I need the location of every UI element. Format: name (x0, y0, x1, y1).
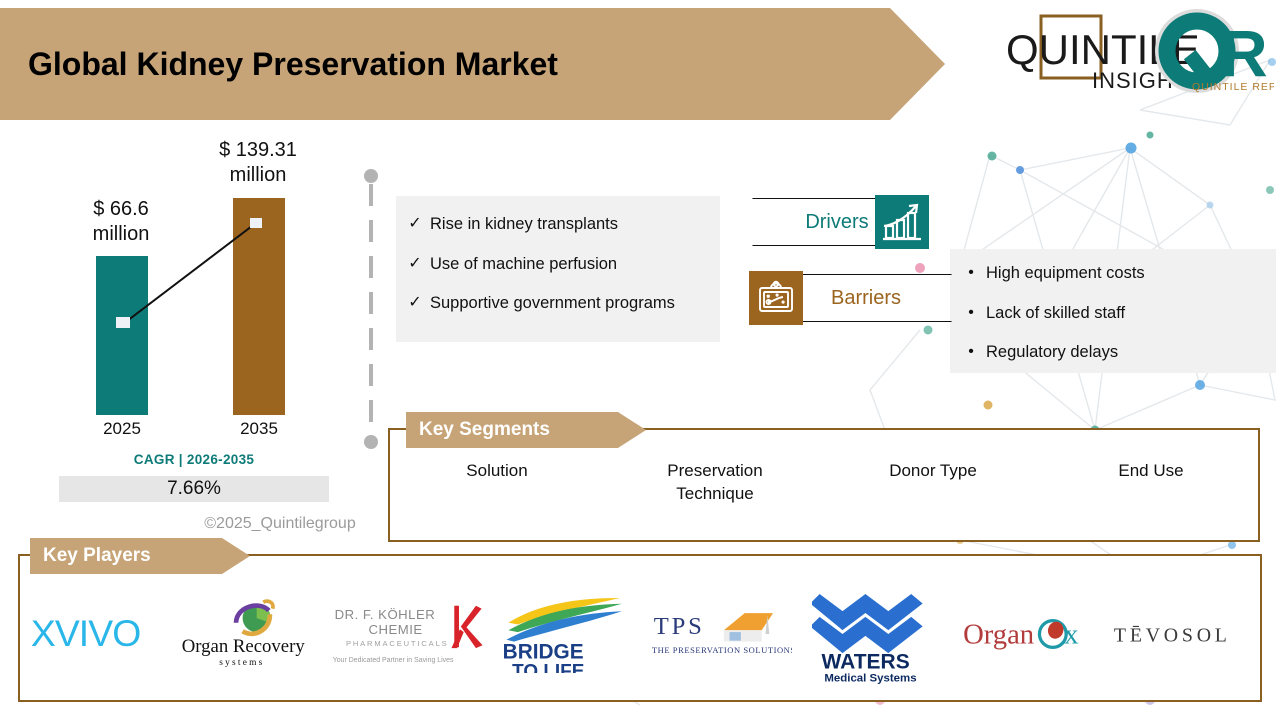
key-segments-tab-label: Key Segments (419, 419, 550, 441)
bridge-line1: BRIDGE (502, 641, 583, 664)
drivers-list-panel: ✓ Rise in kidney transplants ✓ Use of ma… (396, 196, 720, 342)
player-logo-waters-medical-systems: WATERS Medical Systems (798, 578, 951, 690)
waters-chevron-mark (812, 594, 923, 653)
player-logo-tevosol: TĒVOSOL (1105, 578, 1258, 690)
player-logo-xvivo: XVIVO (22, 578, 175, 690)
bullet-dot-icon: • (956, 301, 986, 326)
segment-label: Solution (388, 460, 606, 483)
key-segments-list: Solution Preservation Technique Donor Ty… (388, 460, 1260, 506)
infographic-stage: Global Kidney Preservation Market QUINTI… (0, 0, 1280, 720)
segment-label: Donor Type (824, 460, 1042, 483)
barrier-text: Lack of skilled staff (986, 301, 1125, 327)
driver-text: Rise in kidney transplants (430, 212, 618, 238)
qr-mark: R QUINTILE REPORTS (1158, 12, 1274, 93)
segment-item-preservation-technique: Preservation Technique (606, 460, 824, 506)
player-logo-organox: Organ x (951, 578, 1104, 690)
barrier-item: • Regulatory delays (956, 340, 1262, 366)
kohler-line3: PHARMACEUTICALS (346, 639, 449, 648)
tevosol-wordmark: TĒVOSOL (1114, 625, 1231, 647)
bridge-line2: TO LIFE (512, 662, 584, 673)
kohler-tagline: Your Dedicated Partner in Saving Lives (333, 657, 454, 664)
barrier-text: High equipment costs (986, 261, 1145, 287)
segment-item-end-use: End Use (1042, 460, 1260, 506)
organ-recovery-name: Organ Recovery (182, 636, 306, 657)
bullet-dot-icon: • (956, 261, 986, 286)
driver-item: ✓ Use of machine perfusion (400, 252, 702, 278)
vertical-dashed-divider (362, 168, 380, 450)
market-size-bar-chart: $ 66.6 million $ 139.31 million 2025 203… (0, 125, 360, 545)
player-logo-bridge-to-life: BRIDGE TO LIFE (491, 578, 644, 690)
check-icon: ✓ (400, 252, 430, 277)
organ-recovery-sub: systems (219, 658, 264, 668)
segment-label-line2: Technique (606, 483, 824, 506)
tps-initials: TPS (654, 613, 705, 640)
player-logo-organ-recovery-systems: Organ Recovery systems (175, 578, 328, 690)
segment-label-line1: Preservation (606, 460, 824, 483)
page-title: Global Kidney Preservation Market (28, 46, 558, 83)
waters-line2: Medical Systems (825, 673, 917, 684)
segment-item-donor-type: Donor Type (824, 460, 1042, 506)
player-logo-tps: TPS THE PRESERVATION SOLUTIONS (644, 578, 797, 690)
waters-line1: WATERS (822, 650, 910, 673)
player-logo-kohler-chemie: DR. F. KÖHLER CHEMIE PHARMACEUTICALS You… (329, 578, 491, 690)
barriers-list-panel: • High equipment costs • Lack of skilled… (950, 249, 1276, 373)
qr-mark-sub: QUINTILE REPORTS (1192, 81, 1274, 93)
barrier-item: • Lack of skilled staff (956, 301, 1262, 327)
trend-marker-2035 (250, 218, 262, 228)
bullet-dot-icon: • (956, 340, 986, 365)
organ-recovery-emblem (236, 601, 273, 634)
key-segments-tab: Key Segments (406, 412, 646, 448)
xvivo-wordmark: XVIVO (31, 612, 140, 654)
key-players-logo-row: XVIVO Organ Recovery systems DR. F. KÖHL… (22, 578, 1258, 690)
driver-text: Supportive government programs (430, 291, 675, 317)
strategy-board-icon (749, 271, 803, 325)
x-axis-tick-2035: 2035 (219, 419, 299, 439)
driver-text: Use of machine perfusion (430, 252, 617, 278)
segment-label: End Use (1042, 460, 1260, 483)
trend-marker-2025 (116, 317, 130, 328)
key-players-tab: Key Players (30, 538, 250, 574)
check-icon: ✓ (400, 291, 430, 316)
kohler-line2: CHEMIE (368, 622, 422, 637)
tps-house-icon (724, 613, 773, 641)
growth-trend-line (0, 125, 360, 445)
tps-tagline: THE PRESERVATION SOLUTIONS (652, 645, 792, 655)
driver-item: ✓ Supportive government programs (400, 291, 702, 317)
bar-chart-growth-icon (875, 195, 929, 249)
driver-item: ✓ Rise in kidney transplants (400, 212, 702, 238)
kohler-kk-mark (451, 606, 482, 648)
key-players-tab-label: Key Players (43, 545, 151, 567)
barrier-item: • High equipment costs (956, 261, 1262, 287)
brand-logo: QUINTILE INSIGHTS R QUINTILE REPORTS (984, 4, 1274, 104)
kohler-line1: DR. F. KÖHLER (334, 607, 435, 622)
barrier-text: Regulatory delays (986, 340, 1118, 366)
segment-item-solution: Solution (388, 460, 606, 506)
organox-wordmark: Organ (963, 619, 1034, 651)
organox-x: x (1064, 619, 1078, 651)
barriers-ribbon-label: Barriers (801, 287, 951, 310)
x-axis-tick-2025: 2025 (82, 419, 162, 439)
barriers-ribbon: Barriers (800, 274, 952, 322)
check-icon: ✓ (400, 212, 430, 237)
svg-text:R: R (1220, 16, 1268, 90)
bridge-swoosh (506, 598, 621, 642)
